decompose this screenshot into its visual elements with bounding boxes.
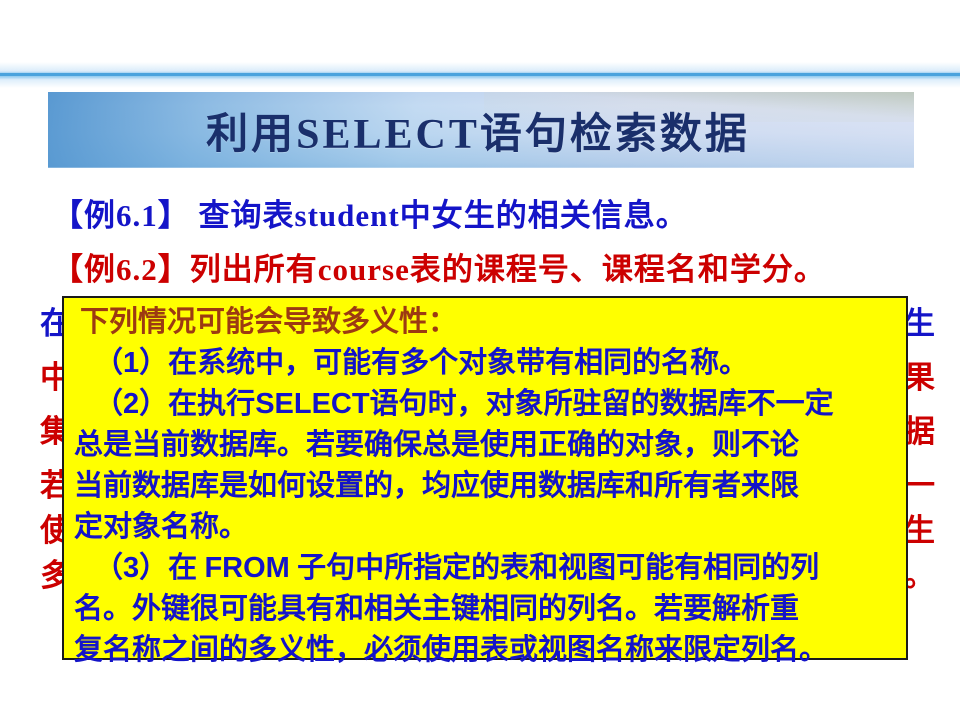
callout-item-2-line-3: 当前数据库是如何设置的，均应使用数据库和所有者来限 — [74, 466, 898, 507]
ambiguity-callout-box: 下列情况可能会导致多义性： （1）在系统中，可能有多个对象带有相同的名称。 （2… — [62, 296, 908, 660]
example-2-text: 列出所有course表的课程号、课程名和学分。 — [190, 252, 826, 287]
callout-item-3-marker-open: （ — [94, 552, 123, 584]
slide-canvas: 利用SELECT语句检索数据 【例6.1】 查询表student中女生的相关信息… — [0, 0, 960, 720]
top-divider-line — [0, 73, 960, 76]
callout-item-3-number: 3 — [123, 552, 139, 584]
example-line-2: 【例6.2】列出所有course表的课程号、课程名和学分。 — [52, 244, 826, 289]
callout-item-1-marker-open: （ — [94, 347, 123, 379]
callout-item-3-line-3: 复名称之间的多义性，必须使用表或视图名称来限定列名。 — [74, 630, 898, 671]
example-line-1: 【例6.1】 查询表student中女生的相关信息。 — [52, 190, 688, 235]
callout-item-2-line-2: 总是当前数据库。若要确保总是使用正确的对象，则不论 — [74, 425, 898, 466]
callout-item-2-marker-open: （ — [94, 388, 123, 420]
callout-item-2-marker-close: ） — [139, 388, 168, 420]
callout-item-1-marker-close: ） — [139, 347, 168, 379]
example-2-bracket-open: 【 — [52, 252, 84, 287]
callout-item-3-keyword: FROM — [204, 552, 289, 584]
example-1-bracket-open: 【 — [52, 198, 84, 233]
example-2-bracket-close: 】 — [158, 252, 190, 287]
callout-heading: 下列情况可能会导致多义性： — [74, 302, 898, 343]
callout-item-2-line-4: 定对象名称。 — [74, 507, 898, 548]
callout-item-3-post: 子句中所指定的表和视图可能有相同的列 — [290, 552, 819, 584]
callout-item-3-line-2: 名。外键很可能具有和相关主键相同的列名。若要解析重 — [74, 589, 898, 630]
example-1-text: 查询表student中女生的相关信息。 — [190, 198, 688, 233]
example-2-label: 例6.2 — [84, 252, 158, 287]
title-banner: 利用SELECT语句检索数据 — [48, 92, 914, 168]
callout-item-3-pre: 在 — [168, 552, 204, 584]
callout-item-1: （1）在系统中，可能有多个对象带有相同的名称。 — [74, 343, 898, 384]
callout-item-2: （2）在执行SELECT语句时，对象所驻留的数据库不一定 — [74, 384, 898, 425]
callout-item-2-pre: 在执行 — [168, 388, 255, 420]
callout-item-1-number: 1 — [123, 347, 139, 379]
callout-item-1-text: 在系统中，可能有多个对象带有相同的名称。 — [168, 347, 748, 379]
callout-item-3-marker-close: ） — [139, 552, 168, 584]
page-title: 利用SELECT语句检索数据 — [48, 92, 914, 168]
callout-item-3: （3）在 FROM 子句中所指定的表和视图可能有相同的列 — [74, 548, 898, 589]
callout-item-2-number: 2 — [123, 388, 139, 420]
callout-item-2-keyword: SELECT — [255, 388, 369, 420]
top-divider-rule — [0, 62, 960, 88]
callout-item-2-post: 语句时，对象所驻留的数据库不一定 — [370, 388, 834, 420]
example-1-bracket-close: 】 — [158, 198, 190, 233]
example-1-label: 例6.1 — [84, 198, 158, 233]
